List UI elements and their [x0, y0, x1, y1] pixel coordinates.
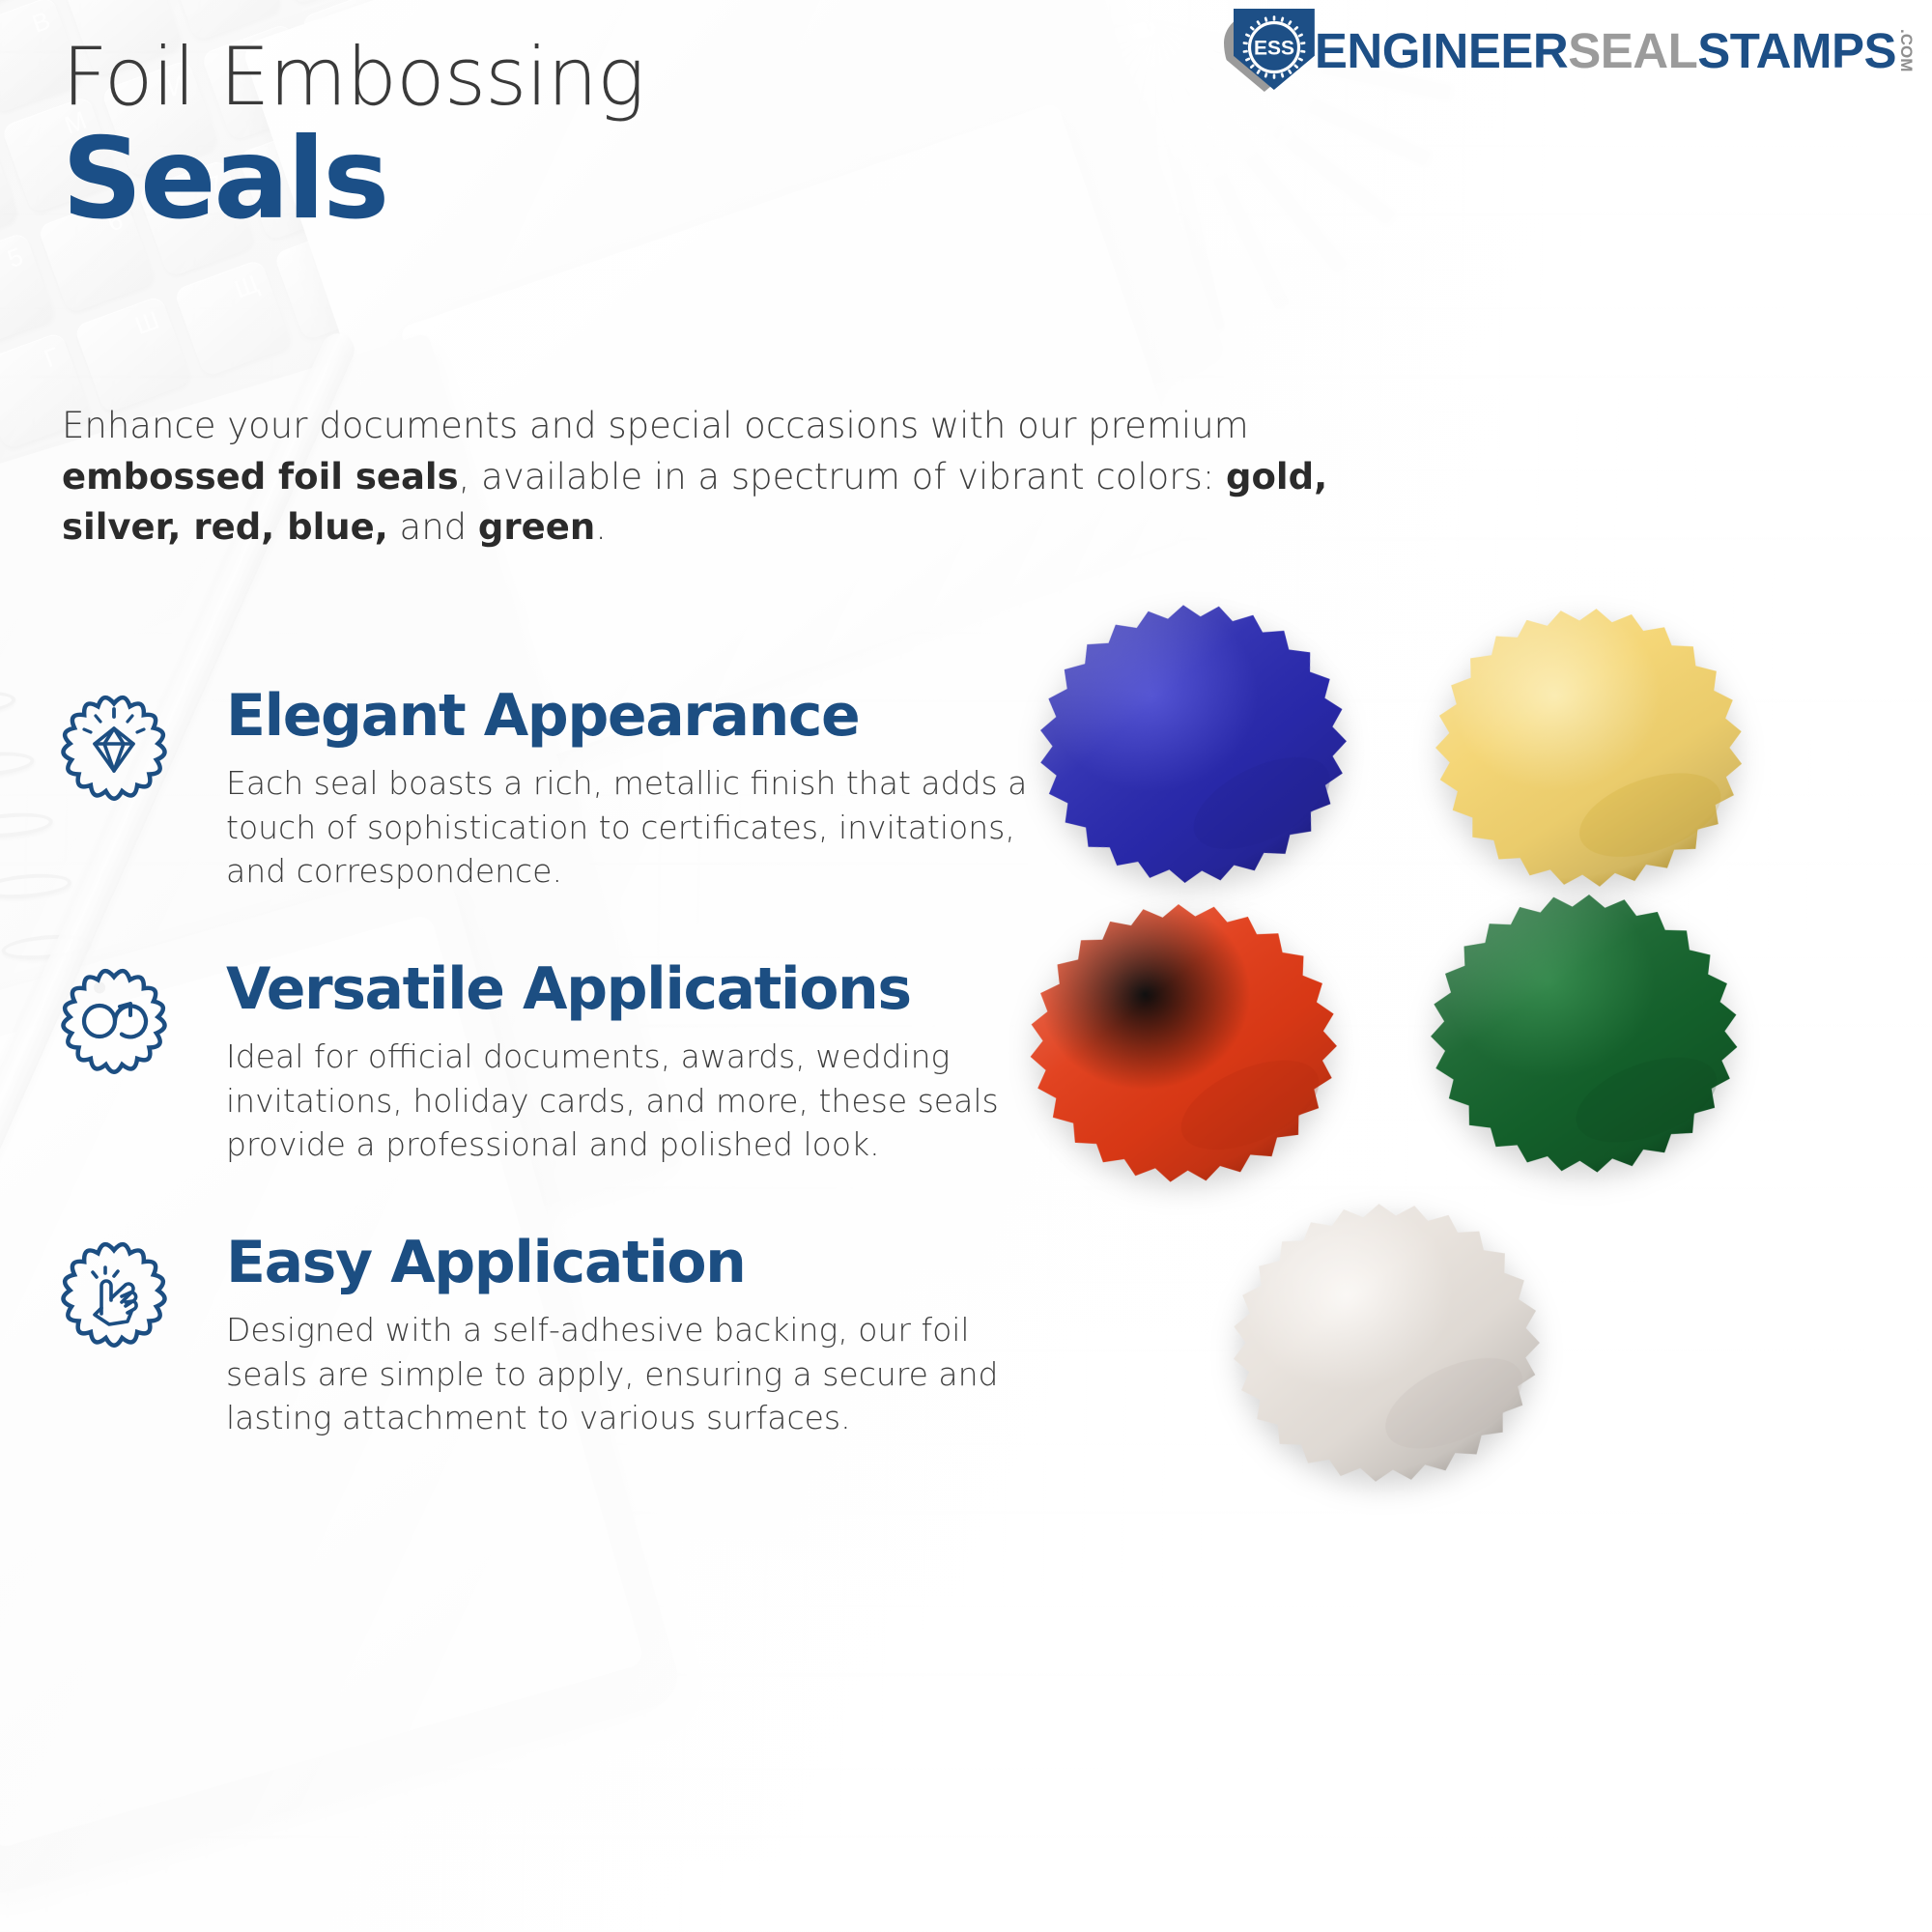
hand-tap-seal-icon [54, 1235, 174, 1354]
intro-text-d: . [595, 506, 607, 548]
brand-logo[interactable]: ESS ENGINEERSEALSTAMPS.COM [1234, 10, 1915, 91]
foil-seal-red[interactable] [1019, 893, 1348, 1193]
intro-bold-seals: embossed foil seals [62, 456, 459, 497]
page-title: Foil Embossing Seals [62, 37, 644, 237]
feature-item: Easy Application Designed with a self-ad… [54, 1233, 1030, 1440]
wordmark-seal: SEAL [1568, 26, 1697, 75]
ess-badge-text: ESS [1254, 38, 1294, 60]
feature-heading: Elegant Appearance [226, 686, 1030, 746]
feature-item: Elegant Appearance Each seal boasts a ri… [54, 686, 1030, 894]
feature-body: Each seal boasts a rich, metallic finish… [226, 761, 1030, 894]
intro-text-b: , available in a spectrum of vibrant col… [459, 456, 1226, 497]
seal-sheen [1226, 1196, 1547, 1489]
foil-seal-green[interactable] [1420, 883, 1748, 1183]
infinity-seal-icon [54, 961, 174, 1081]
foil-seal-gold[interactable] [1422, 595, 1755, 901]
feature-heading: Versatile Applications [226, 959, 1030, 1019]
seal-sheen [1429, 601, 1749, 894]
foil-seal-blue[interactable] [1024, 588, 1362, 899]
wordmark-tld: .COM [1898, 29, 1915, 71]
feature-body: Ideal for official documents, awards, we… [226, 1035, 1030, 1167]
diamond-seal-icon [54, 688, 174, 808]
feature-item: Versatile Applications Ideal for officia… [54, 959, 1030, 1167]
wordmark-stamps: STAMPS [1697, 26, 1896, 75]
feature-heading: Easy Application [226, 1233, 1030, 1293]
title-line-2: Seals [62, 123, 644, 237]
intro-text-a: Enhance your documents and special occas… [62, 405, 1249, 446]
title-line-1: Foil Embossing [62, 37, 644, 119]
seal-sheen [1031, 594, 1356, 892]
wordmark-engineer: ENGINEER [1315, 26, 1568, 75]
seal-sheen [1025, 899, 1341, 1187]
seal-gallery [1024, 599, 1922, 1874]
feature-list: Elegant Appearance Each seal boasts a ri… [54, 686, 1030, 1440]
foil-seal-silver[interactable] [1219, 1190, 1552, 1496]
brand-wordmark: ENGINEERSEALSTAMPS.COM [1315, 26, 1915, 75]
ess-badge-icon: ESS [1234, 9, 1315, 92]
intro-bold-green: green [478, 506, 595, 548]
intro-text-c: and [388, 506, 478, 548]
intro-paragraph: Enhance your documents and special occas… [62, 401, 1443, 554]
feature-body: Designed with a self-adhesive backing, o… [226, 1308, 1030, 1440]
